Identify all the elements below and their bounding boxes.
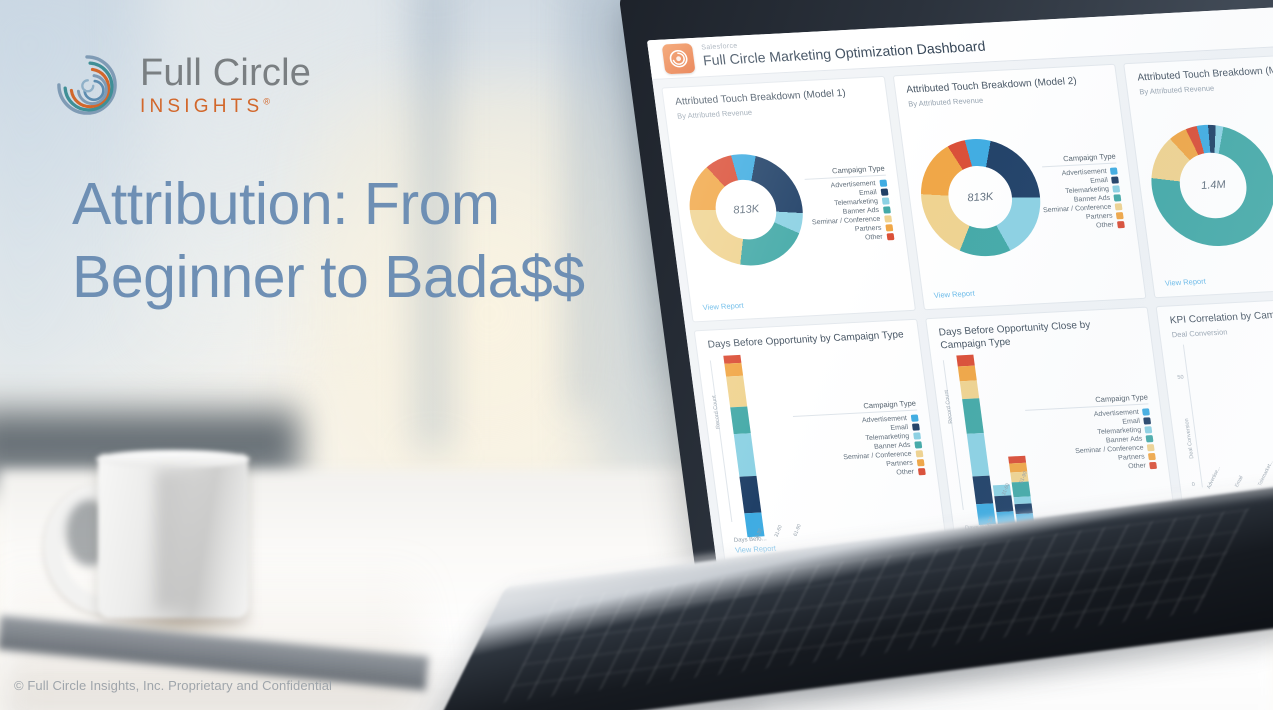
legend-item-label: Telemarketing xyxy=(834,198,879,207)
legend-color-swatch xyxy=(914,441,922,448)
legend-title: Campaign Type xyxy=(1023,392,1148,410)
legend-item-label: Advertisement xyxy=(862,415,908,424)
stacked-bar-segment[interactable] xyxy=(734,433,757,477)
legend-item[interactable]: Other xyxy=(1050,221,1126,232)
legend-item-label: Telemarketing xyxy=(1065,186,1110,195)
stacked-bar-segment[interactable] xyxy=(1011,482,1030,497)
y-axis-tick-label: 0 xyxy=(1191,481,1195,487)
card-attributed-touch-model-2[interactable]: Attributed Touch Breakdown (Model 2) By … xyxy=(892,64,1146,311)
coffee-mug xyxy=(38,448,258,643)
full-circle-insights-logo: Full Circle INSIGHTS® xyxy=(48,46,311,124)
legend-item-label: Banner Ads xyxy=(1106,436,1143,445)
y-axis-tick-label: 50 xyxy=(1177,374,1184,380)
legend-color-swatch xyxy=(1113,186,1121,193)
chart-legend: Campaign Type AdvertisementEmailTelemark… xyxy=(785,398,925,481)
presentation-slide: Salesforce Full Circle Marketing Optimiz… xyxy=(0,0,1273,710)
legend-item-label: Advertisement xyxy=(1093,409,1139,418)
logo-wordmark: Full Circle INSIGHTS® xyxy=(140,54,311,116)
legend-item-label: Other xyxy=(865,234,883,242)
logo-subtitle-text: INSIGHTS xyxy=(140,96,263,117)
card-chart-area: 813K Campaign Type AdvertisementEmailTel… xyxy=(678,114,901,301)
stacked-bar-chart[interactable]: Record Count 0-3031-6061-90 xyxy=(709,352,802,538)
card-chart-area: 813K Campaign Type AdvertisementEmailTel… xyxy=(909,102,1132,289)
legend-color-swatch xyxy=(1116,212,1124,219)
chart-legend: Campaign Type AdvertisementEmailTelemark… xyxy=(1034,152,1125,233)
stacked-bar-segment[interactable] xyxy=(966,433,989,476)
legend-color-swatch xyxy=(913,432,921,439)
legend-color-swatch xyxy=(910,414,918,421)
mug-rim xyxy=(96,450,250,468)
legend-item[interactable]: Other xyxy=(812,233,894,244)
legend-item-label: Other xyxy=(1128,462,1146,470)
legend-color-swatch xyxy=(1143,417,1151,424)
donut-center-value: 813K xyxy=(733,203,760,216)
card-chart-area: Record Count 0-3031-6061-90 Campaign Typ… xyxy=(709,346,932,538)
legend-color-swatch xyxy=(1114,194,1122,201)
chart-legend: Campaign Type AdvertisementEmailTelemark… xyxy=(1017,392,1157,475)
page-title: Attribution: From Beginner to Bada$$ xyxy=(72,168,692,314)
card-chart-area: Deal Conversion 500 xyxy=(1173,332,1273,487)
legend-color-swatch xyxy=(1110,168,1118,175)
title-line-1: Attribution: From xyxy=(72,168,692,241)
dashboard-header-text: Salesforce Full Circle Marketing Optimiz… xyxy=(701,30,986,69)
legend-title: Campaign Type xyxy=(791,398,916,416)
legend-color-swatch xyxy=(1148,453,1156,460)
legend-color-swatch xyxy=(1149,462,1157,469)
legend-color-swatch xyxy=(1111,177,1119,184)
legend-color-swatch xyxy=(881,198,889,205)
stacked-bar-segment[interactable] xyxy=(972,475,993,504)
legend-color-swatch xyxy=(1146,435,1154,442)
legend-color-swatch xyxy=(1117,221,1125,228)
legend-title: Campaign Type xyxy=(803,164,885,180)
stacked-bar-segment[interactable] xyxy=(730,406,751,434)
donut-chart-wrapper: 813K xyxy=(913,136,1047,259)
card-chart-area: 1.4M xyxy=(1140,89,1273,276)
legend-item-label: Banner Ads xyxy=(1073,195,1110,204)
title-line-2: Beginner to Bada$$ xyxy=(72,241,692,314)
legend-item-label: Email xyxy=(1090,177,1108,185)
stacked-bar-segment[interactable] xyxy=(962,398,984,434)
legend-color-swatch xyxy=(879,180,887,187)
legend-item-label: Banner Ads xyxy=(874,442,911,451)
laptop-screen: Salesforce Full Circle Marketing Optimiz… xyxy=(647,4,1273,576)
legend-item-label: Advertisement xyxy=(1061,168,1107,177)
legend-color-swatch xyxy=(1145,426,1153,433)
legend-color-swatch xyxy=(918,468,926,475)
chart-legend: Campaign Type AdvertisementEmailTelemark… xyxy=(797,164,894,245)
stacked-bar-segment[interactable] xyxy=(739,476,761,514)
legend-item-label: Email xyxy=(890,424,908,432)
y-axis-label: Record Count xyxy=(711,395,721,429)
spiral-logo-icon xyxy=(48,46,126,124)
legend-color-swatch xyxy=(885,224,893,231)
legend-item-label: Partners xyxy=(1118,454,1145,462)
legend-color-swatch xyxy=(1147,444,1155,451)
stacked-bar-segment[interactable] xyxy=(959,381,978,399)
legend-item-label: Partners xyxy=(855,225,882,233)
legend-item-label: Email xyxy=(1122,418,1140,426)
donut-center-value: 1.4M xyxy=(1200,179,1226,192)
y-axis-label: Record Count xyxy=(944,390,954,424)
y-axis-line xyxy=(1183,344,1203,487)
full-circle-app-icon[interactable] xyxy=(662,43,696,74)
donut-chart-wrapper: 813K xyxy=(683,151,810,268)
legend-item-label: Other xyxy=(1096,222,1114,230)
legend-color-swatch xyxy=(883,207,891,214)
marketing-dashboard: Salesforce Full Circle Marketing Optimiz… xyxy=(647,4,1273,576)
bar[interactable] xyxy=(1195,379,1209,487)
donut-center-value: 813K xyxy=(967,191,994,204)
stacked-bar-chart[interactable]: Record Count 0-3031-6061-90 xyxy=(942,353,1034,526)
legend-color-swatch xyxy=(912,423,920,430)
legend-color-swatch xyxy=(916,459,924,466)
stacked-bar-segment[interactable] xyxy=(726,376,747,407)
card-attributed-touch-model-1[interactable]: Attributed Touch Breakdown (Model 1) By … xyxy=(661,76,915,323)
mug-shading xyxy=(156,470,214,610)
legend-title: Campaign Type xyxy=(1040,152,1116,168)
stacked-bar-segment[interactable] xyxy=(994,495,1013,512)
legend-item-label: Email xyxy=(859,189,877,197)
legend-item-label: Other xyxy=(896,468,914,476)
bar[interactable] xyxy=(1196,366,1212,486)
legend-item-label: Banner Ads xyxy=(842,207,879,216)
legend-color-swatch xyxy=(1115,203,1123,210)
laptop: Salesforce Full Circle Marketing Optimiz… xyxy=(560,0,1273,710)
stacked-bar-segment[interactable] xyxy=(724,363,743,377)
logo-name: Full Circle xyxy=(140,54,311,92)
logo-subtitle: INSIGHTS® xyxy=(140,97,311,116)
legend-color-swatch xyxy=(1142,408,1150,415)
legend-color-swatch xyxy=(886,233,894,240)
legend-item-label: Telemarketing xyxy=(865,433,910,442)
legend-item-label: Partners xyxy=(886,459,913,467)
card-attributed-touch-model-3[interactable]: Attributed Touch Breakdown (Model 3) By … xyxy=(1123,52,1273,299)
legend-color-swatch xyxy=(884,216,892,223)
legend-item-label: Telemarketing xyxy=(1097,427,1142,436)
stacked-bar-segment[interactable] xyxy=(957,365,976,382)
copyright-footer: © Full Circle Insights, Inc. Proprietary… xyxy=(14,678,332,693)
legend-color-swatch xyxy=(915,450,923,457)
registered-mark: ® xyxy=(263,97,270,107)
donut-chart-wrapper: 1.4M xyxy=(1144,121,1273,248)
legend-color-swatch xyxy=(880,189,888,196)
legend-item-label: Advertisement xyxy=(830,180,876,189)
card-chart-area: Record Count 0-3031-6061-90 Campaign Typ… xyxy=(942,346,1164,526)
legend-item-label: Partners xyxy=(1086,213,1113,221)
